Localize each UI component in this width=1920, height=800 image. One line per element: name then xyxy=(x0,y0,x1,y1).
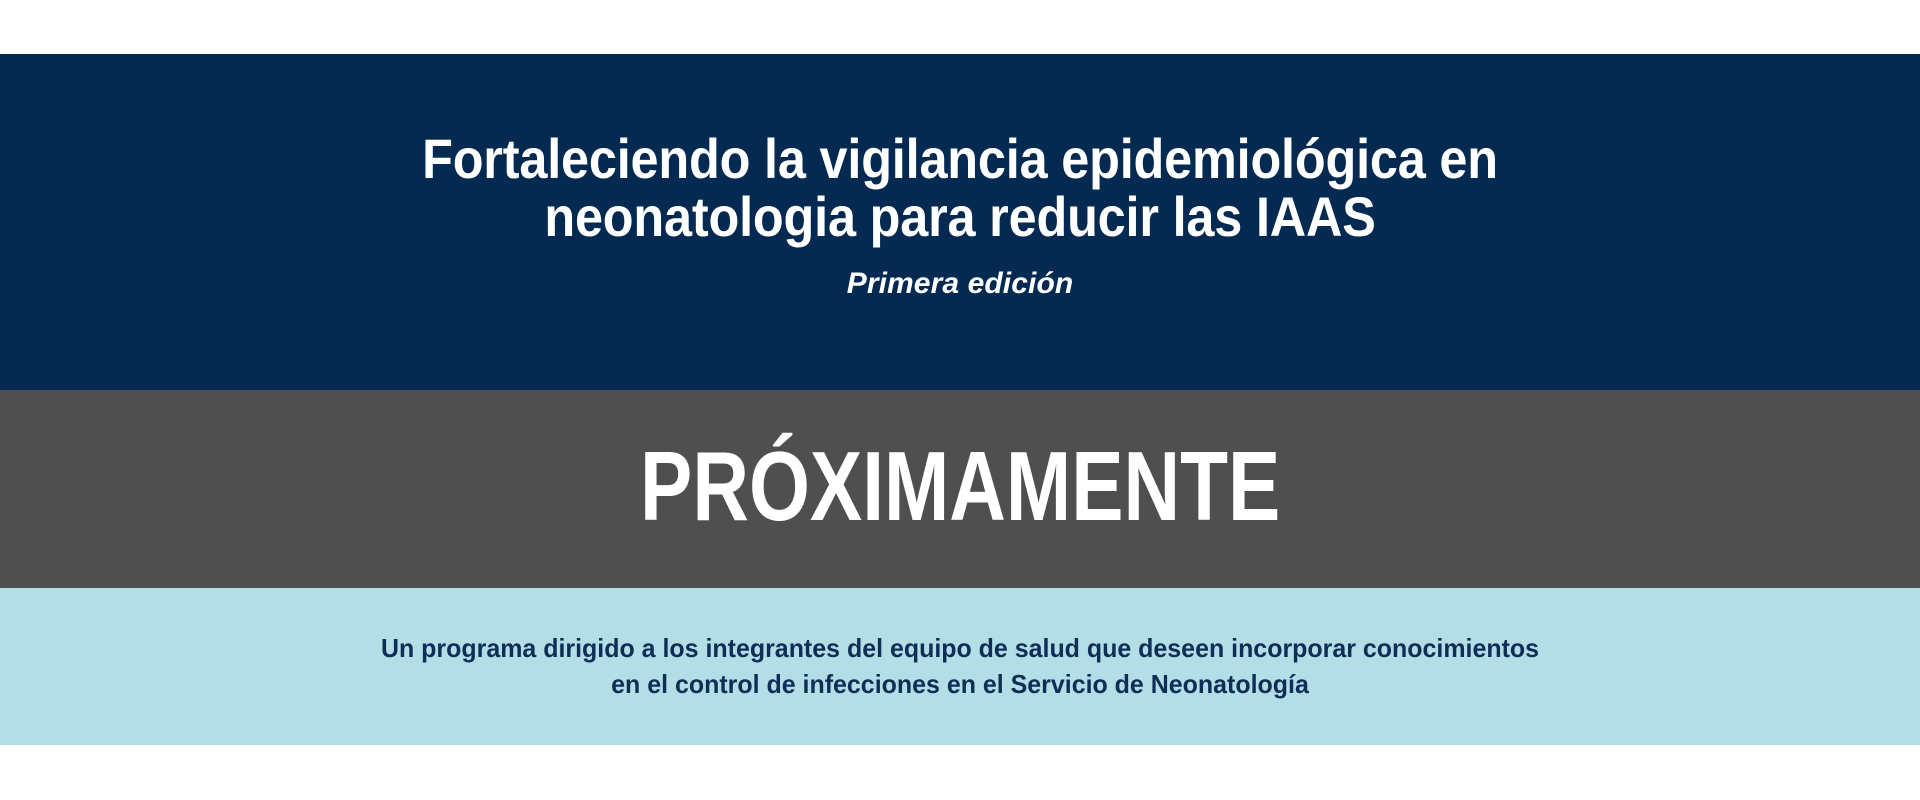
top-white-spacer xyxy=(0,0,1920,54)
status-gray-band: PRÓXIMAMENTE xyxy=(0,390,1920,588)
status-badge: PRÓXIMAMENTE xyxy=(640,437,1280,541)
hero-navy-band: Fortaleciendo la vigilancia epidemiológi… xyxy=(0,54,1920,390)
course-announcement-banner: Fortaleciendo la vigilancia epidemiológi… xyxy=(0,0,1920,800)
description-lightblue-band: Un programa dirigido a los integrantes d… xyxy=(0,588,1920,745)
edition-subtitle: Primera edición xyxy=(847,267,1074,300)
program-description: Un programa dirigido a los integrantes d… xyxy=(288,631,1632,703)
page-title: Fortaleciendo la vigilancia epidemiológi… xyxy=(398,130,1523,245)
bottom-white-spacer xyxy=(0,745,1920,800)
